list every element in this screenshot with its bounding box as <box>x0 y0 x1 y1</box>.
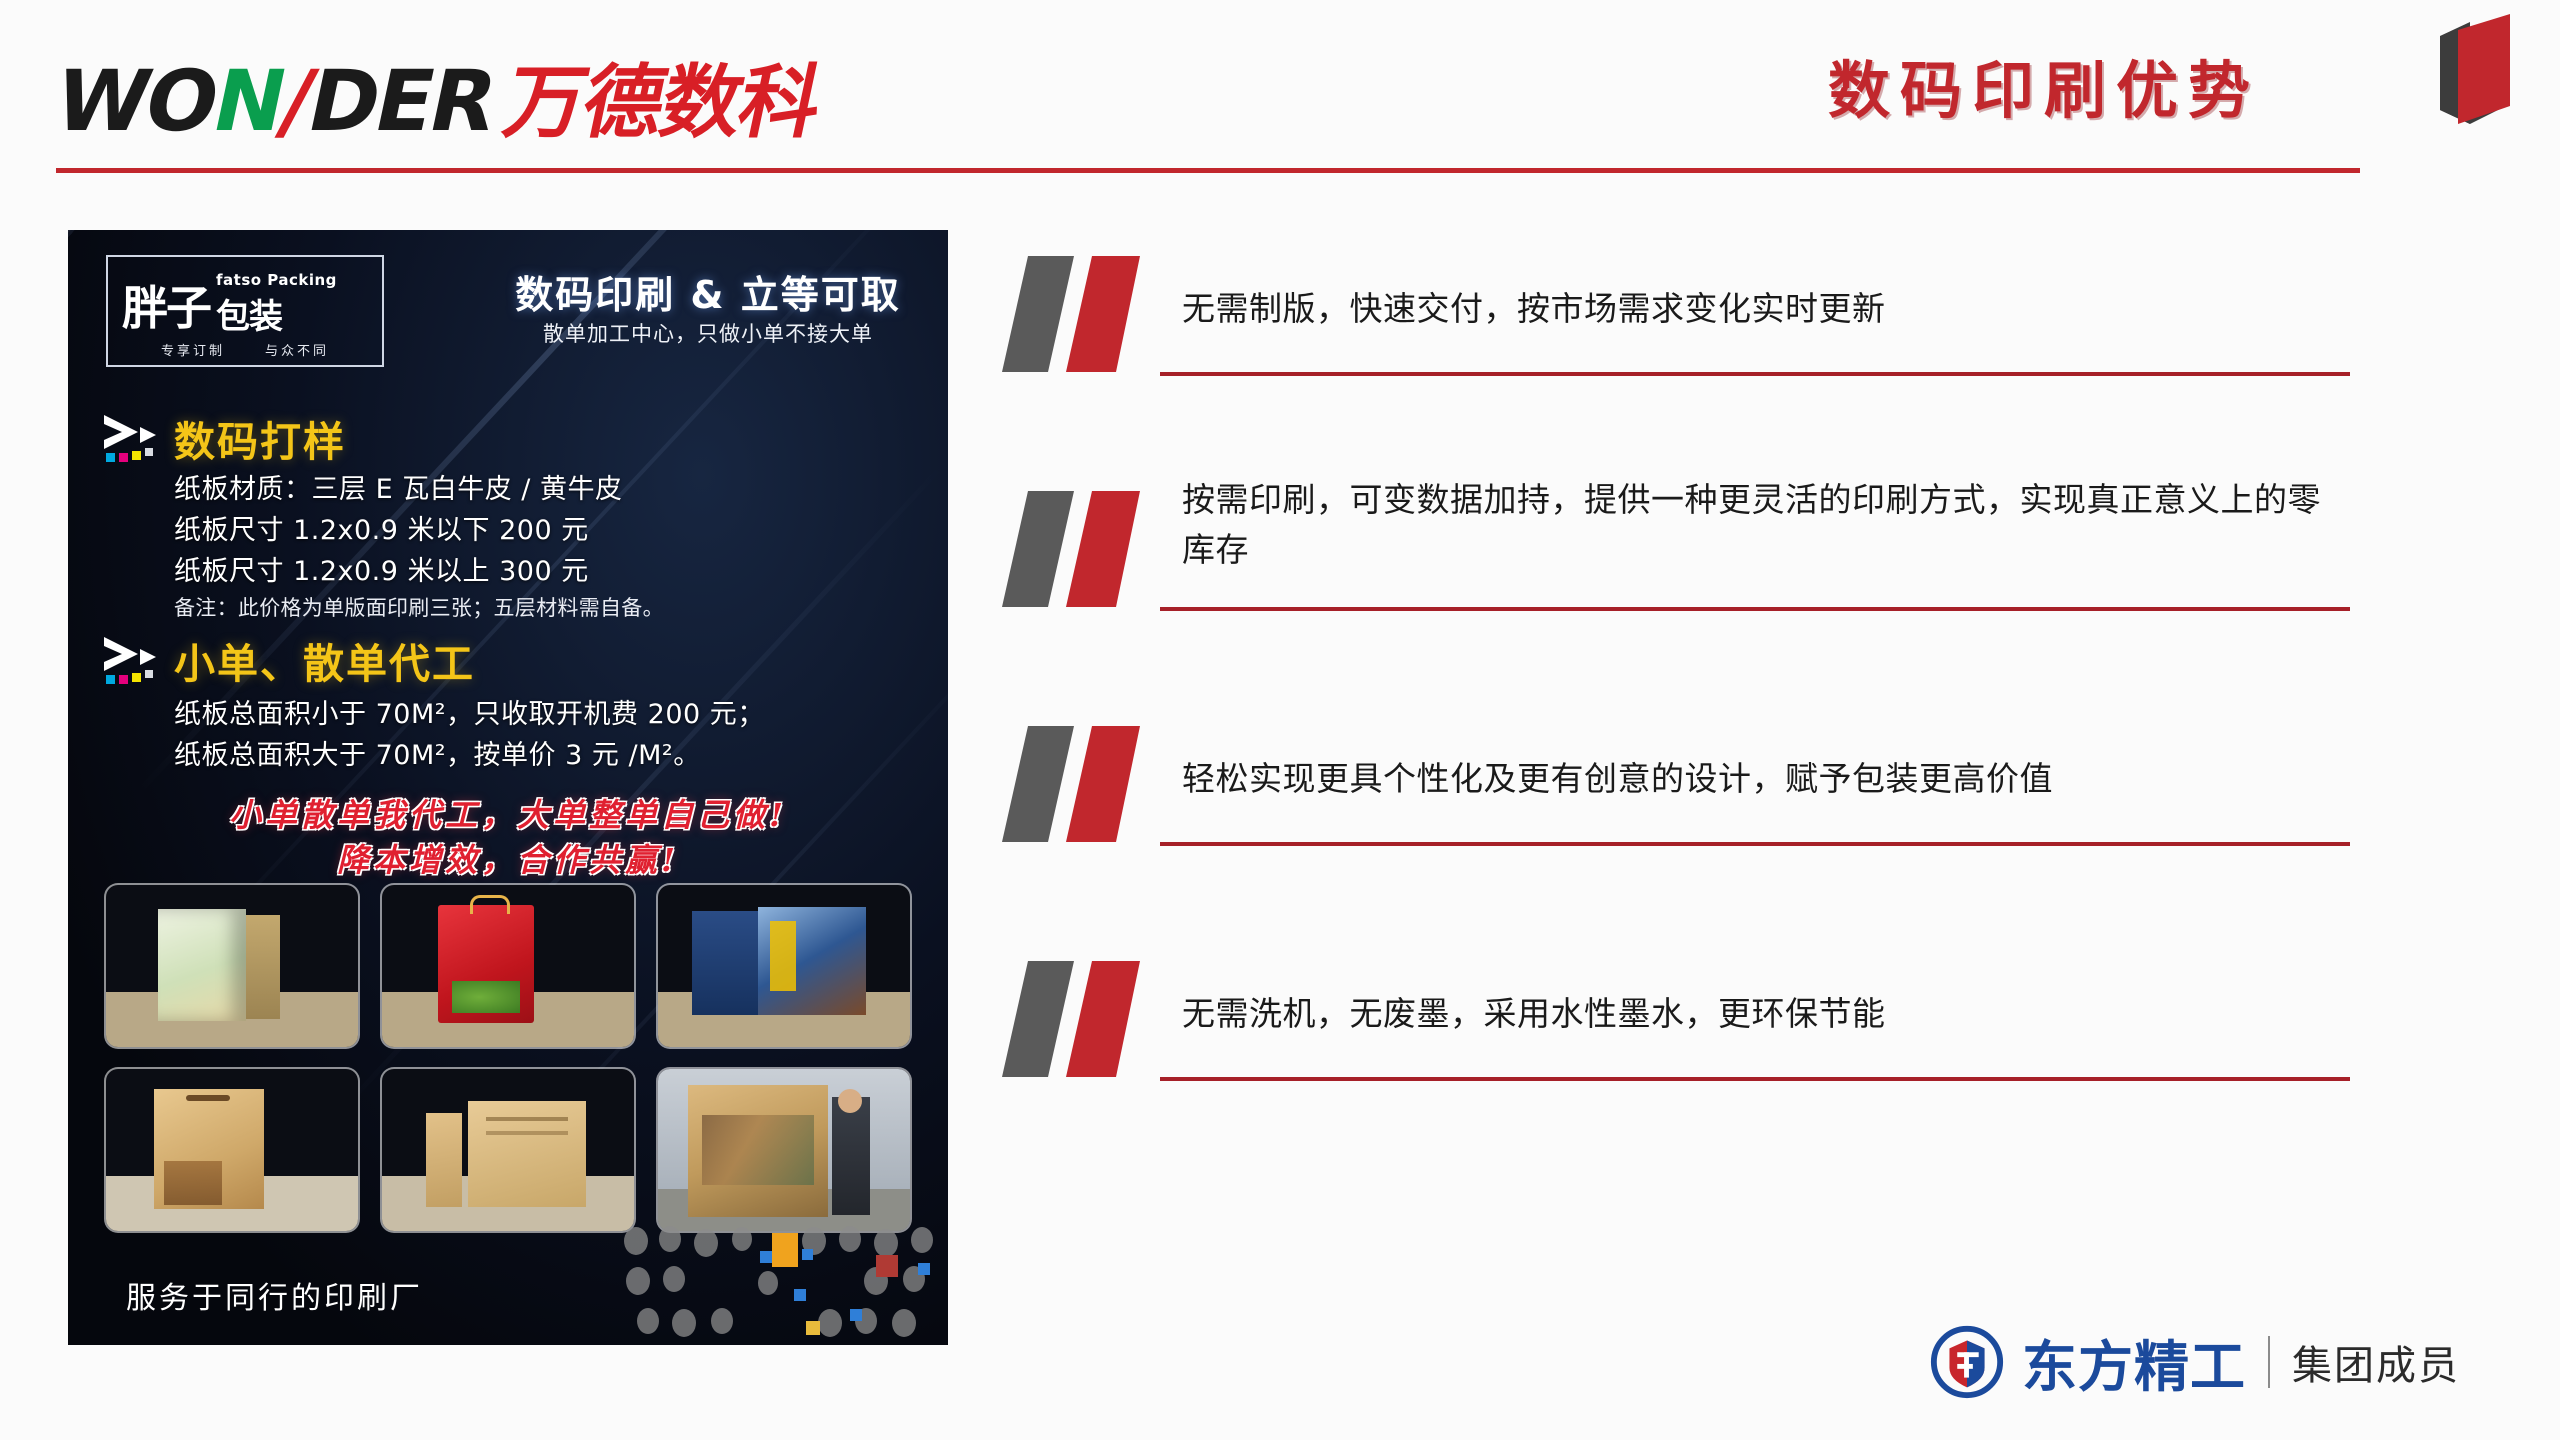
advantage-text-3: 轻松实现更具个性化及更有创意的设计，赋予包装更高价值 <box>1182 754 2352 804</box>
poster-photo-honey-gift-box <box>106 885 358 1047</box>
poster-section-1-head: 数码打样 <box>98 408 346 468</box>
poster-brand-main: 胖子 fatso Packing 包装 <box>122 270 337 338</box>
poster-photo-kraft-handle-box <box>106 1069 358 1231</box>
poster-brand-en: fatso Packing <box>216 271 337 289</box>
cmyk-arrow-icon <box>98 633 162 687</box>
poster-section-1-note: 备注：此价格为单版面印刷三张；五层材料需自备。 <box>174 592 664 622</box>
slide-header: WO N / DER 万德数科 数码印刷优势 <box>0 0 2560 175</box>
poster-photo-classic-gift-boxes <box>382 1069 634 1231</box>
page-title: 数码印刷优势 <box>1828 40 2260 130</box>
poster-slogan-line-1: 小单散单我代工，大单整单自己做! <box>68 790 948 836</box>
poster-tag-left: 专享订制 <box>161 340 225 359</box>
advantage-underline-1 <box>1160 372 2350 376</box>
poster-section-1-line-3: 纸板尺寸 1.2x0.9 米以上 300 元 <box>174 549 589 588</box>
poster-section-1-line-2: 纸板尺寸 1.2x0.9 米以下 200 元 <box>174 508 589 547</box>
logo-text-wo: WO <box>47 52 226 150</box>
poster-headline: 数码印刷 & 立等可取 <box>498 264 918 319</box>
advantage-item-4: 无需洗机，无废墨，采用水性墨水，更环保节能 <box>1000 955 2420 1190</box>
advantage-item-3: 轻松实现更具个性化及更有创意的设计，赋予包装更高价值 <box>1000 720 2420 955</box>
double-slash-marker-icon <box>1000 720 1180 848</box>
header-divider <box>56 168 2360 173</box>
group-member-logo: 东方精工 集团成员 <box>1928 1322 2460 1402</box>
group-member-label: 集团成员 <box>2292 1333 2460 1391</box>
poster-section-1-title: 数码打样 <box>174 408 346 468</box>
poster-photo-grid <box>106 885 910 1231</box>
wonder-logo: WO N / DER 万德数科 <box>46 38 833 154</box>
advantage-text-1: 无需制版，快速交付，按市场需求变化实时更新 <box>1182 284 2352 334</box>
double-slash-marker-icon <box>1000 250 1180 378</box>
poster-brand-box: 胖子 fatso Packing 包装 专享订制 与众不同 <box>106 255 384 367</box>
poster-section-1-line-1: 纸板材质：三层 E 瓦白牛皮 / 黄牛皮 <box>174 467 623 506</box>
poster-section-2-line-1: 纸板总面积小于 70M²，只收取开机费 200 元； <box>174 692 765 731</box>
poster-section-2-line-2: 纸板总面积大于 70M²，按单价 3 元 /M²。 <box>174 733 701 772</box>
poster-photo-large-landscape-box <box>658 1069 910 1231</box>
poster-slogan-line-2: 降本增效，合作共赢! <box>68 835 948 881</box>
poster-subheadline: 散单加工中心，只做小单不接大单 <box>498 318 918 348</box>
poster-brand-tags: 专享订制 与众不同 <box>108 340 382 359</box>
advantage-underline-3 <box>1160 842 2350 846</box>
poster-brand-cn: 胖子 <box>122 272 210 338</box>
poster-section-2-head: 小单、散单代工 <box>98 630 475 690</box>
advantage-item-2: 按需印刷，可变数据加持，提供一种更灵活的印刷方式，实现真正意义上的零库存 <box>1000 485 2420 720</box>
logo-separator <box>2268 1336 2270 1388</box>
advantages-list: 无需制版，快速交付，按市场需求变化实时更新 按需印刷，可变数据加持，提供一种更灵… <box>1000 250 2420 1190</box>
poster-footer-text: 服务于同行的印刷厂 <box>126 1273 423 1317</box>
corner-ribbon-icon <box>2398 8 2518 148</box>
poster-photo-red-chicken-gift-box <box>382 885 634 1047</box>
double-slash-marker-icon <box>1000 955 1180 1083</box>
advantage-item-1: 无需制版，快速交付，按市场需求变化实时更新 <box>1000 250 2420 485</box>
logo-text-der: DER <box>300 52 504 150</box>
group-company-name: 东方精工 <box>2022 1322 2246 1402</box>
promotional-poster: 胖子 fatso Packing 包装 专享订制 与众不同 数码印刷 & 立等可… <box>68 230 948 1345</box>
halftone-dots-decoration <box>618 1225 948 1345</box>
poster-tag-right: 与众不同 <box>265 340 329 359</box>
poster-photo-blue-beef-pie-box <box>658 885 910 1047</box>
logo-text-chinese: 万德数科 <box>496 38 833 154</box>
double-slash-marker-icon <box>1000 485 1180 613</box>
dongfang-circle-icon <box>1928 1323 2006 1401</box>
advantage-text-4: 无需洗机，无废墨，采用水性墨水，更环保节能 <box>1182 989 2352 1039</box>
advantage-text-2: 按需印刷，可变数据加持，提供一种更灵活的印刷方式，实现真正意义上的零库存 <box>1182 475 2352 575</box>
poster-section-2-title: 小单、散单代工 <box>174 630 475 690</box>
advantage-underline-2 <box>1160 607 2350 611</box>
cmyk-arrow-icon <box>98 411 162 465</box>
poster-brand-pack: 包装 <box>216 297 282 337</box>
advantage-underline-4 <box>1160 1077 2350 1081</box>
